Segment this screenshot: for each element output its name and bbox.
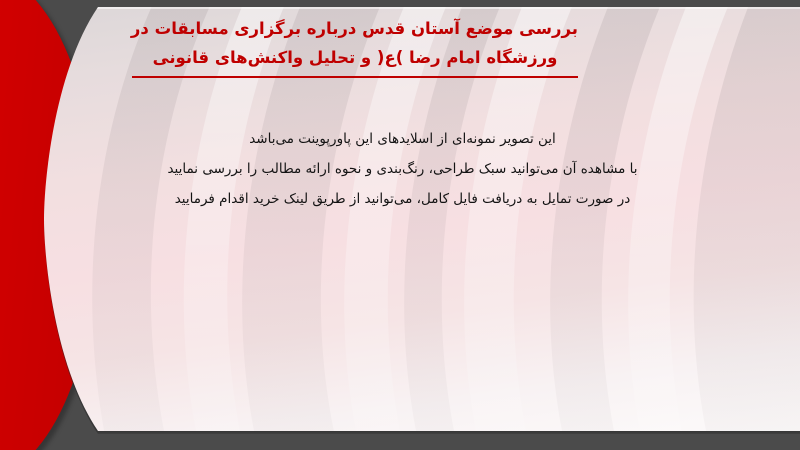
body-line-1: این تصویر نمونه‌ای از اسلایدهای این پاور… <box>115 124 690 154</box>
slide-content: بررسی موضع آستان قدس درباره برگزاری مساب… <box>0 0 800 450</box>
title-line-1: بررسی موضع آستان قدس درباره برگزاری مساب… <box>132 14 578 43</box>
presentation-slide: بررسی موضع آستان قدس درباره برگزاری مساب… <box>0 0 800 450</box>
body-line-3: در صورت تمایل به دریافت فایل کامل، می‌تو… <box>115 184 690 214</box>
title-underline <box>132 76 578 78</box>
slide-body-text: این تصویر نمونه‌ای از اسلایدهای این پاور… <box>115 124 690 214</box>
body-line-2: با مشاهده آن می‌توانید سبک طراحی، رنگ‌بن… <box>115 154 690 184</box>
slide-title: بررسی موضع آستان قدس درباره برگزاری مساب… <box>132 14 578 78</box>
title-line-2: ورزشگاه امام رضا )ع( و تحلیل واکنش‌های ق… <box>132 43 578 72</box>
